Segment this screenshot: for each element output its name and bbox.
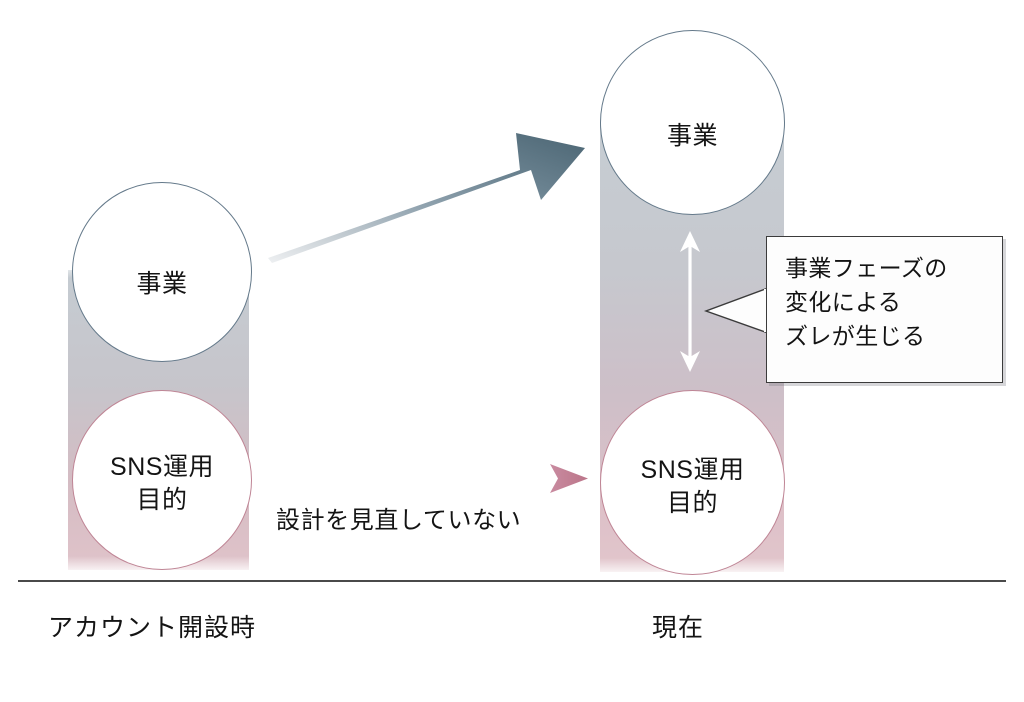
right-business-circle: 事業 bbox=[600, 30, 785, 215]
left-business-circle: 事業 bbox=[72, 182, 252, 362]
phase-gap-diagram: 事業 SNS運用 目的 事業 SNS運用 目的 bbox=[0, 0, 1024, 702]
axis-label-account-opening: アカウント開設時 bbox=[48, 608, 256, 644]
design-unchanged-arrow bbox=[268, 464, 588, 493]
phase-change-callout: 事業フェーズの 変化による ズレが生じる bbox=[766, 236, 1003, 383]
design-unchanged-arrow-label: 設計を見直していない bbox=[276, 500, 576, 535]
right-business-circle-label: 事業 bbox=[667, 120, 718, 153]
right-sns-purpose-circle-label: SNS運用 目的 bbox=[641, 454, 745, 520]
right-sns-purpose-circle: SNS運用 目的 bbox=[600, 390, 785, 575]
left-sns-purpose-circle: SNS運用 目的 bbox=[72, 390, 252, 570]
left-business-circle-label: 事業 bbox=[136, 268, 187, 301]
phase-change-callout-text: 事業フェーズの 変化による ズレが生じる bbox=[785, 251, 948, 353]
left-sns-purpose-circle-label: SNS運用 目的 bbox=[110, 451, 214, 517]
business-growth-arrow bbox=[268, 133, 585, 263]
axis-label-present: 現在 bbox=[652, 608, 704, 644]
timeline-baseline bbox=[18, 580, 1006, 582]
